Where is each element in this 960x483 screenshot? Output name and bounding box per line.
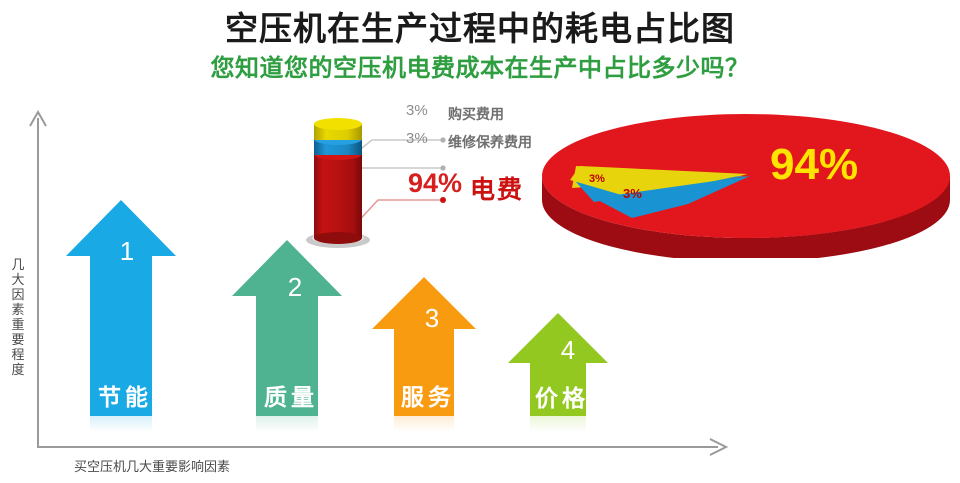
arrow-bar-4[interactable]: 4 价格 <box>508 313 608 416</box>
arrow-rank-1: 1 <box>72 236 182 267</box>
callout-pct-electricity: 94% <box>408 168 462 199</box>
arrow-reflection-2 <box>256 416 318 432</box>
y-axis-label: 几大因素重要程度 <box>6 258 30 378</box>
arrow-label-2: 质量 <box>236 378 346 412</box>
arrow-label-3: 服务 <box>376 378 480 412</box>
arrow-reflection-1 <box>90 416 152 432</box>
arrow-rank-3: 3 <box>380 303 484 334</box>
arrow-reflection-3 <box>394 416 454 432</box>
callout-label-purchase: 购买费用 <box>448 104 504 124</box>
callout-pct-purchase: 3% <box>406 102 428 119</box>
callout-pct-maintenance: 3% <box>406 130 428 147</box>
x-axis-label: 买空压机几大重要影响因素 <box>74 456 230 475</box>
arrow-reflection-4 <box>530 416 586 432</box>
arrow-rank-4: 4 <box>518 335 618 366</box>
arrow-rank-2: 2 <box>240 272 350 303</box>
pie-label-yellow: 3% <box>589 173 605 185</box>
stacked-cylinder-chart[interactable] <box>292 118 392 248</box>
pie-label-electricity: 94% <box>770 140 858 190</box>
arrow-bar-1[interactable]: 1 节能 <box>66 200 176 416</box>
arrow-label-4: 价格 <box>512 379 612 413</box>
infographic-canvas: 空压机在生产过程中的耗电占比图 您知道您的空压机电费成本在生产中占比多少吗？ <box>0 0 960 483</box>
pie-label-blue: 3% <box>623 186 642 201</box>
arrow-bar-3[interactable]: 3 服务 <box>372 277 476 416</box>
arrow-bar-2[interactable]: 2 质量 <box>232 240 342 416</box>
cylinder-shape <box>292 118 392 248</box>
arrow-label-1: 节能 <box>70 378 180 412</box>
callout-label-maintenance: 维修保养费用 <box>448 132 532 152</box>
callout-label-electricity: 电费 <box>470 170 524 206</box>
